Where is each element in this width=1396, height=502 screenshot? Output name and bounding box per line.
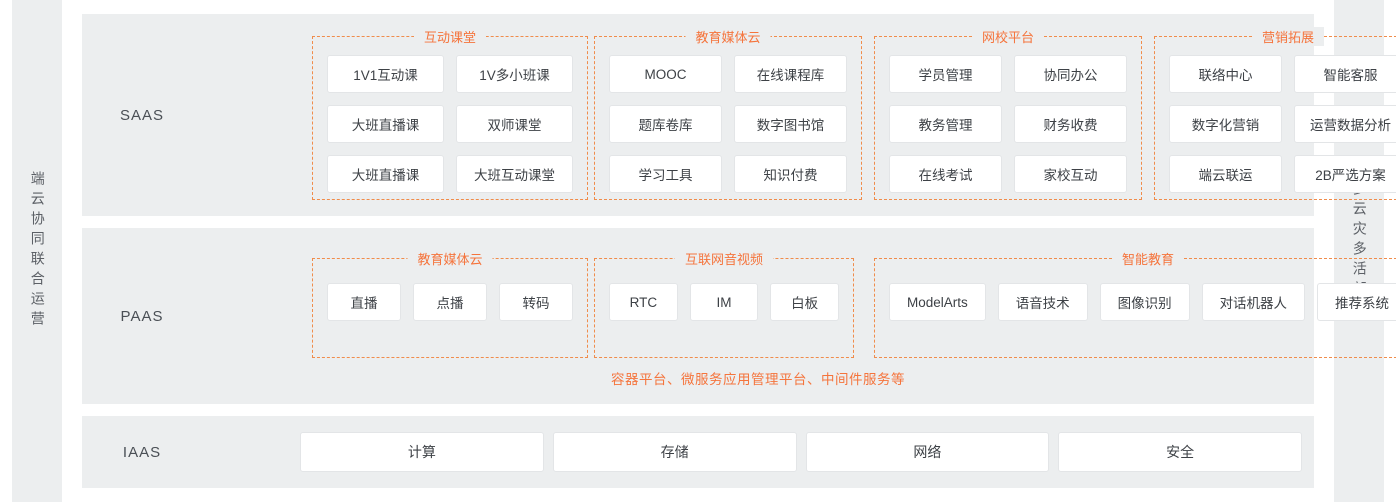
cell-item[interactable]: MOOC	[609, 55, 722, 93]
cell-item[interactable]: 运营数据分析	[1294, 105, 1396, 143]
cell-item[interactable]: 2B严选方案	[1294, 155, 1396, 193]
cell-item[interactable]: 协同办公	[1014, 55, 1127, 93]
cell-item[interactable]: IM	[690, 283, 759, 321]
group-paas-0-cells: 直播 点播 转码	[313, 259, 587, 357]
group-paas-1-cells: RTC IM 白板	[595, 259, 853, 357]
cell-item[interactable]: ModelArts	[889, 283, 986, 321]
cell-item[interactable]: 在线考试	[889, 155, 1002, 193]
cell-item[interactable]: 安全	[1058, 432, 1302, 472]
cell-item[interactable]: 在线课程库	[734, 55, 847, 93]
cell-item[interactable]: 题库卷库	[609, 105, 722, 143]
cell-item[interactable]: 财务收费	[1014, 105, 1127, 143]
paas-footnote: 容器平台、微服务应用管理平台、中间件服务等	[202, 368, 1314, 388]
group-saas-3: 营销拓展 联络中心 智能客服 数字化营销 运营数据分析 端云联运 2B严选方案	[1154, 36, 1396, 200]
cell-item[interactable]: 联络中心	[1169, 55, 1282, 93]
group-saas-1-cells: MOOC 在线课程库 题库卷库 数字图书馆 学习工具 知识付费	[595, 37, 861, 199]
cell-item[interactable]: 1V多小班课	[456, 55, 573, 93]
layer-saas-body: 互动课堂 1V1互动课 1V多小班课 大班直播课 双师课堂 大班直播课 大班互动…	[202, 14, 1314, 216]
group-saas-0-cells: 1V1互动课 1V多小班课 大班直播课 双师课堂 大班直播课 大班互动课堂	[313, 37, 587, 199]
cell-item[interactable]: 对话机器人	[1202, 283, 1305, 321]
layer-iaas-label: IAAS	[82, 444, 202, 461]
group-saas-2: 网校平台 学员管理 协同办公 教务管理 财务收费 在线考试 家校互动	[874, 36, 1142, 200]
group-saas-2-cells: 学员管理 协同办公 教务管理 财务收费 在线考试 家校互动	[875, 37, 1141, 199]
layer-paas-label: PAAS	[82, 308, 202, 325]
cell-item[interactable]: 数字图书馆	[734, 105, 847, 143]
layer-iaas: IAAS 计算 存储 网络 安全	[82, 416, 1314, 488]
cell-item[interactable]: 家校互动	[1014, 155, 1127, 193]
group-saas-1: 教育媒体云 MOOC 在线课程库 题库卷库 数字图书馆 学习工具 知识付费	[594, 36, 862, 200]
cell-item[interactable]: 1V1互动课	[327, 55, 444, 93]
iaas-cells: 计算 存储 网络 安全	[300, 432, 1302, 472]
cell-item[interactable]: 存储	[553, 432, 797, 472]
cell-item[interactable]: 推荐系统	[1317, 283, 1396, 321]
cell-item[interactable]: 点播	[413, 283, 487, 321]
group-paas-1: 互联网音视频 RTC IM 白板	[594, 258, 854, 358]
layer-paas-body: 教育媒体云 直播 点播 转码 互联网音视频 RTC IM 白板	[202, 228, 1314, 404]
cell-item[interactable]: 大班直播课	[327, 105, 444, 143]
layer-saas-label: SAAS	[82, 107, 202, 124]
cell-item[interactable]: 学习工具	[609, 155, 722, 193]
group-saas-0: 互动课堂 1V1互动课 1V多小班课 大班直播课 双师课堂 大班直播课 大班互动…	[312, 36, 588, 200]
cell-item[interactable]: 数字化营销	[1169, 105, 1282, 143]
cell-item[interactable]: 知识付费	[734, 155, 847, 193]
cell-item[interactable]: 网络	[806, 432, 1050, 472]
group-paas-2-cells: ModelArts 语音技术 图像识别 对话机器人 推荐系统	[875, 259, 1396, 357]
cell-item[interactable]: 直播	[327, 283, 401, 321]
layers-container: SAAS 互动课堂 1V1互动课 1V多小班课 大班直播课 双师课堂 大班直播课…	[82, 0, 1314, 502]
group-paas-2: 智能教育 ModelArts 语音技术 图像识别 对话机器人 推荐系统	[874, 258, 1396, 358]
cell-item[interactable]: 大班互动课堂	[456, 155, 573, 193]
cell-item[interactable]: 智能客服	[1294, 55, 1396, 93]
layer-saas: SAAS 互动课堂 1V1互动课 1V多小班课 大班直播课 双师课堂 大班直播课…	[82, 14, 1314, 216]
layer-iaas-body: 计算 存储 网络 安全	[202, 416, 1314, 488]
cell-item[interactable]: 双师课堂	[456, 105, 573, 143]
cell-item[interactable]: 白板	[770, 283, 839, 321]
group-paas-0: 教育媒体云 直播 点播 转码	[312, 258, 588, 358]
cell-item[interactable]: RTC	[609, 283, 678, 321]
cell-item[interactable]: 教务管理	[889, 105, 1002, 143]
cell-item[interactable]: 语音技术	[998, 283, 1088, 321]
diagram-root: 端云协同联合运营 多云灾多活部署 SAAS 互动课堂 1V1互动课 1V多小班课…	[0, 0, 1396, 502]
group-saas-3-cells: 联络中心 智能客服 数字化营销 运营数据分析 端云联运 2B严选方案	[1155, 37, 1396, 199]
cell-item[interactable]: 图像识别	[1100, 283, 1190, 321]
cell-item[interactable]: 学员管理	[889, 55, 1002, 93]
layer-paas: PAAS 教育媒体云 直播 点播 转码 互联网音视频 RTC IM 白板	[82, 228, 1314, 404]
cell-item[interactable]: 计算	[300, 432, 544, 472]
left-vertical-band: 端云协同联合运营	[12, 0, 62, 502]
cell-item[interactable]: 转码	[499, 283, 573, 321]
cell-item[interactable]: 端云联运	[1169, 155, 1282, 193]
cell-item[interactable]: 大班直播课	[327, 155, 444, 193]
left-vertical-label: 端云协同联合运营	[29, 171, 44, 331]
